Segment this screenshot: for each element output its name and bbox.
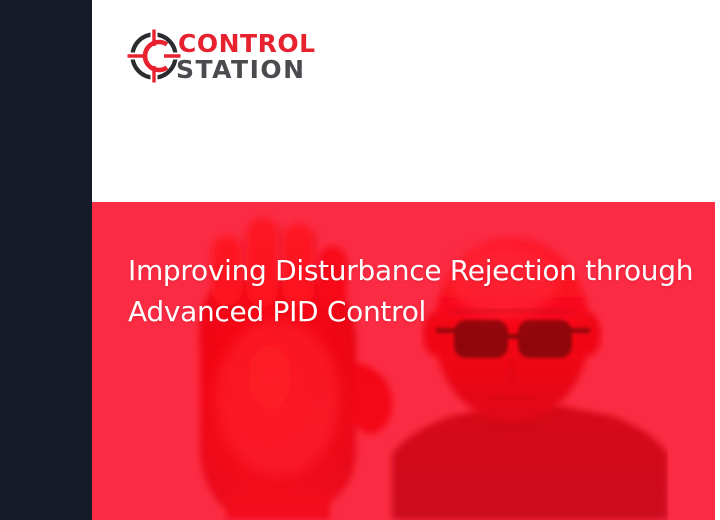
right-edge-strip <box>715 0 720 520</box>
crosshair-target-icon <box>126 28 182 84</box>
slide-canvas: CONTROL STATION Cascade Control <box>0 0 720 520</box>
brand-word-control: CONTROL <box>178 31 316 55</box>
hero-headline-line1: Improving Disturbance Rejection through <box>128 250 688 291</box>
hero-banner: Improving Disturbance Rejection through … <box>92 202 720 520</box>
brand-word-station: STATION <box>176 57 316 82</box>
header-panel: CONTROL STATION <box>92 0 720 202</box>
hero-headline: Improving Disturbance Rejection through … <box>128 250 688 332</box>
hero-headline-line2: Advanced PID Control <box>128 291 688 332</box>
brand-wordmark: CONTROL STATION <box>178 31 316 82</box>
brand-logo[interactable]: CONTROL STATION <box>126 28 316 84</box>
left-dark-rail <box>0 0 92 520</box>
